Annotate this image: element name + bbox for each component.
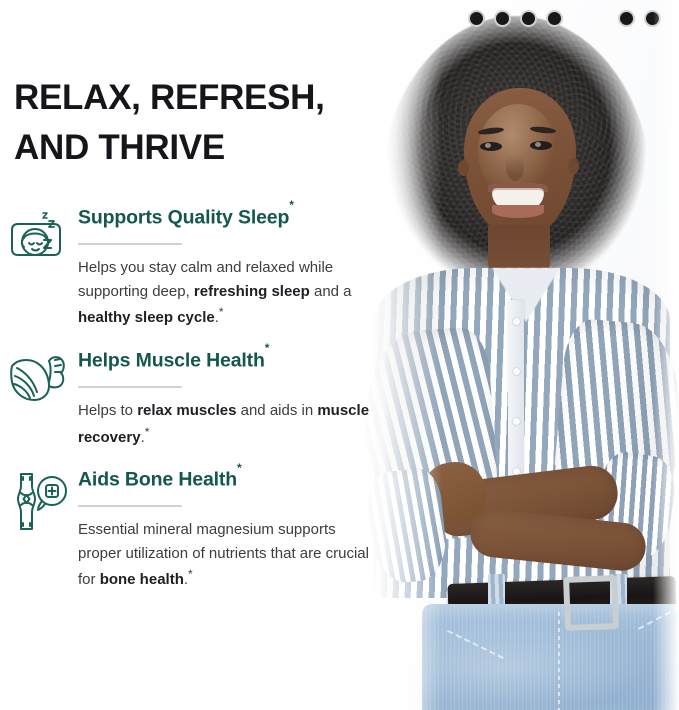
benefit-heading: Supports Quality Sleep* [78,205,392,230]
benefit-heading-asterisk: * [237,461,242,475]
flexed-bicep-icon [9,352,69,406]
icon-container [0,467,78,533]
benefit-heading-asterisk: * [265,341,270,355]
ear-left [458,160,469,176]
belt-eyelet [546,10,563,27]
belt-eyelet [494,10,511,27]
benefit-description: Helps to relax muscles and aids in muscl… [78,399,378,449]
denim-texture [422,604,679,710]
belt-buckle [563,575,619,631]
eye-right [530,141,552,150]
bone-joint-medical-cross-icon [8,471,70,533]
photo-right-feather [653,0,679,710]
eye-sparkle-right [535,142,541,147]
benefit-heading-text: Supports Quality Sleep [78,207,289,229]
eye-left [480,142,502,151]
page-title: RELAX, REFRESH, AND THRIVE [14,73,374,172]
benefit-heading-text: Aids Bone Health [78,469,237,491]
benefit-item-bone: Aids Bone Health* Essential mineral magn… [0,467,400,592]
benefit-heading: Helps Muscle Health* [78,348,392,373]
benefits-list: Supports Quality Sleep* Helps you stay c… [0,205,400,610]
model-photo [352,0,679,710]
belt-eyelet [520,10,537,27]
belt-eyelet [618,10,635,27]
benefit-divider [78,386,182,388]
belt-eyelet [468,10,485,27]
sleeping-face-on-pillow-icon [8,209,70,267]
lower-lip [492,205,544,218]
benefit-heading-asterisk: * [289,198,294,212]
benefit-item-sleep: Supports Quality Sleep* Helps you stay c… [0,205,400,330]
benefit-body: Helps Muscle Health* Helps to relax musc… [78,348,400,449]
benefit-body: Aids Bone Health* Essential mineral magn… [78,467,400,592]
benefit-description: Essential mineral magnesium supports pro… [78,518,378,592]
benefit-heading-text: Helps Muscle Health [78,349,265,371]
benefit-heading: Aids Bone Health* [78,467,392,492]
benefit-body: Supports Quality Sleep* Helps you stay c… [78,205,400,330]
benefit-item-muscle: Helps Muscle Health* Helps to relax musc… [0,348,400,449]
icon-container [0,348,78,406]
eye-sparkle-left [485,143,491,148]
nose [506,155,524,181]
photo-inner [352,0,679,710]
icon-container [0,205,78,267]
benefit-divider [78,243,182,245]
jeans-fly-seam [558,612,560,710]
benefit-description: Helps you stay calm and relaxed while su… [78,256,378,330]
ear-right [568,158,579,174]
benefit-divider [78,505,182,507]
infographic-page: RELAX, REFRESH, AND THRIVE [0,0,679,710]
